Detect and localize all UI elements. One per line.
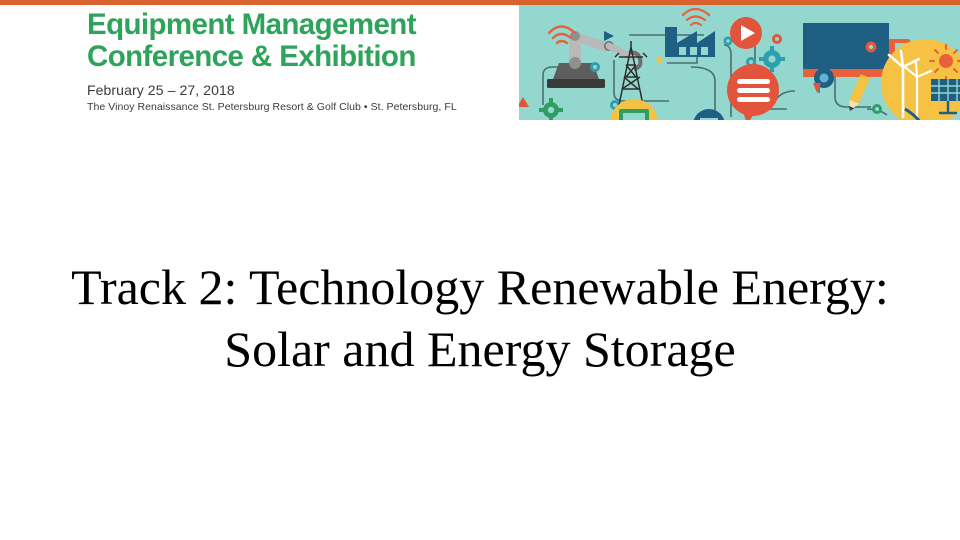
slide-title: Track 2: Technology Renewable Energy: So… (33, 256, 927, 380)
play-button-icon (730, 17, 762, 49)
conference-dates: February 25 – 27, 2018 (87, 82, 507, 99)
logo-title-line-2: Conference & Exhibition (87, 41, 507, 73)
logo-title-line-1: Equipment Management (87, 9, 507, 41)
slide-title-line-1: Track 2: Technology Renewable Energy: (33, 256, 927, 318)
gear-icon (590, 62, 600, 72)
top-accent-rule (0, 0, 960, 5)
iot-banner-illustration (519, 5, 960, 120)
slide-title-line-2: Solar and Energy Storage (33, 318, 927, 380)
gear-icon (866, 42, 877, 53)
presentation-slide: Equipment Management Conference & Exhibi… (0, 0, 960, 540)
conference-venue: The Vinoy Renaissance St. Petersburg Res… (87, 101, 507, 114)
gear-icon (772, 34, 782, 44)
gear-icon (872, 104, 882, 114)
conference-logo-block: Equipment Management Conference & Exhibi… (87, 9, 507, 114)
